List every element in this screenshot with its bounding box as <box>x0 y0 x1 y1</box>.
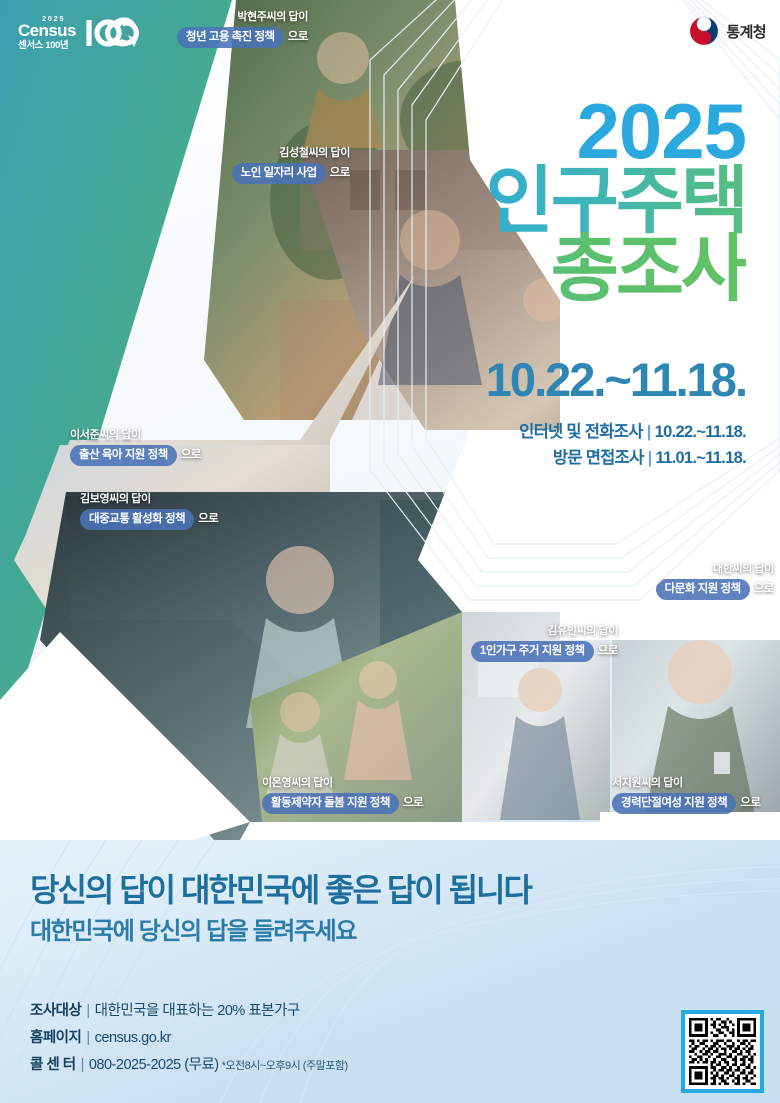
survey-date-headline: 10.22.~11.18. <box>486 352 746 407</box>
method-range: 11.01.~11.18. <box>656 449 746 467</box>
caption-person: 김보영씨의 답이 <box>80 492 218 506</box>
footer-label: 조사대상 <box>30 1003 81 1019</box>
caption-lee-seojun: 이서준씨의 답이 출산 육아 지원 정책으로 <box>70 428 201 466</box>
survey-method-row: 방문 면접조사|11.01.~11.18. <box>519 446 746 472</box>
policy-suffix: 으로 <box>288 31 308 43</box>
footer-value: 대한민국을 대표하는 20% 표본가구 <box>95 1003 300 1019</box>
slogan-block: 당신의 답이 대한민국에 좋은 답이 됩니다 대한민국에 당신의 답을 들려주세… <box>30 872 531 947</box>
policy-pill: 활동제약자 돌봄 지원 정책 <box>262 793 399 814</box>
method-separator: | <box>648 449 652 467</box>
survey-method-row: 인터넷 및 전화조사|10.22.~11.18. <box>519 420 746 446</box>
caption-policy-line: 출산 육아 지원 정책으로 <box>70 445 201 466</box>
slogan-sub: 대한민국에 당신의 답을 들려주세요 <box>30 916 531 947</box>
census-logo: 2025 Census 센서스 100년 <box>16 10 144 59</box>
census-poster: 박현주씨의 답이 청년 고용 촉진 정책으로 김성철씨의 답이 노인 일자리 사… <box>0 0 780 1103</box>
policy-suffix: 으로 <box>330 167 350 179</box>
footer-value[interactable]: census.go.kr <box>95 1030 171 1046</box>
method-separator: | <box>647 423 651 441</box>
caption-person: 박현주씨의 답이 <box>177 10 308 24</box>
footer-separator: | <box>86 1030 89 1046</box>
title-year: 2025 <box>406 96 746 168</box>
footer-separator: | <box>86 1003 89 1019</box>
title-line2: 총조사 <box>406 232 746 306</box>
footer-hours-note: *오전8시~오후9시 (주말포함) <box>222 1060 348 1072</box>
caption-person: 이서준씨의 답이 <box>70 428 201 442</box>
caption-kim-boyoung: 김보영씨의 답이 대중교통 활성화 정책으로 <box>80 492 218 530</box>
method-range: 10.22.~11.18. <box>655 423 746 441</box>
caption-person: 이온영씨의 답이 <box>262 776 423 790</box>
survey-method-dates: 인터넷 및 전화조사|10.22.~11.18. 방문 면접조사|11.01.~… <box>519 420 746 471</box>
footer-label: 콜 센 터 <box>30 1057 76 1073</box>
policy-pill: 경력단절여성 지원 정책 <box>612 793 736 814</box>
caption-kim-seongchul: 김성철씨의 답이 노인 일자리 사업으로 <box>232 146 350 184</box>
caption-policy-line: 노인 일자리 사업으로 <box>232 163 350 184</box>
footer-label: 홈페이지 <box>30 1030 81 1046</box>
caption-policy-line: 활동제약자 돌봄 지원 정책으로 <box>262 793 423 814</box>
census-100-logo-icon: 2025 Census 센서스 100년 <box>16 10 144 54</box>
method-label: 방문 면접조사 <box>553 449 644 467</box>
caption-seo-jiwon: 서지원씨의 답이 경력단절여성 지원 정책으로 <box>612 776 761 814</box>
policy-suffix: 으로 <box>181 449 201 461</box>
slogan-main: 당신의 답이 대한민국에 좋은 답이 됩니다 <box>30 872 531 909</box>
method-label: 인터넷 및 전화조사 <box>519 423 643 441</box>
qr-code-icon <box>689 1018 756 1085</box>
policy-pill: 대중교통 활성화 정책 <box>80 509 194 530</box>
caption-policy-line: 경력단절여성 지원 정책으로 <box>612 793 761 814</box>
footer-separator: | <box>81 1057 84 1073</box>
agency-name: 통계청 <box>726 21 766 42</box>
caption-person: 김성철씨의 답이 <box>232 146 350 160</box>
footer-row-callcenter: 콜 센 터|080-2025-2025 (무료)*오전8시~오후9시 (주말포함… <box>30 1058 348 1074</box>
poster-title: 2025 인구주택 총조사 <box>406 96 746 306</box>
policy-suffix: 으로 <box>198 513 218 525</box>
policy-pill: 노인 일자리 사업 <box>232 163 326 184</box>
svg-text:센서스 100년: 센서스 100년 <box>18 39 68 51</box>
caption-policy-line: 청년 고용 촉진 정책으로 <box>177 27 308 48</box>
policy-pill: 청년 고용 촉진 정책 <box>177 27 284 48</box>
policy-suffix: 으로 <box>403 797 423 809</box>
statistics-korea-logo: 통계청 <box>689 16 766 46</box>
qr-code[interactable] <box>681 1010 764 1093</box>
policy-suffix: 으로 <box>740 797 760 809</box>
policy-pill: 출산 육아 지원 정책 <box>70 445 177 466</box>
taegeuk-icon <box>689 16 719 46</box>
caption-lee-onyoung: 이온영씨의 답이 활동제약자 돌봄 지원 정책으로 <box>262 776 423 814</box>
footer-info: 조사대상|대한민국을 대표하는 20% 표본가구 홈페이지|census.go.… <box>30 1004 348 1085</box>
caption-park-hyunju: 박현주씨의 답이 청년 고용 촉진 정책으로 <box>177 10 308 48</box>
caption-person: 서지원씨의 답이 <box>612 776 761 790</box>
footer-row-target: 조사대상|대한민국을 대표하는 20% 표본가구 <box>30 1004 348 1020</box>
svg-text:Census: Census <box>18 21 76 40</box>
caption-policy-line: 대중교통 활성화 정책으로 <box>80 509 218 530</box>
footer-value: 080-2025-2025 (무료) <box>89 1057 219 1073</box>
footer-row-website: 홈페이지|census.go.kr <box>30 1031 348 1047</box>
